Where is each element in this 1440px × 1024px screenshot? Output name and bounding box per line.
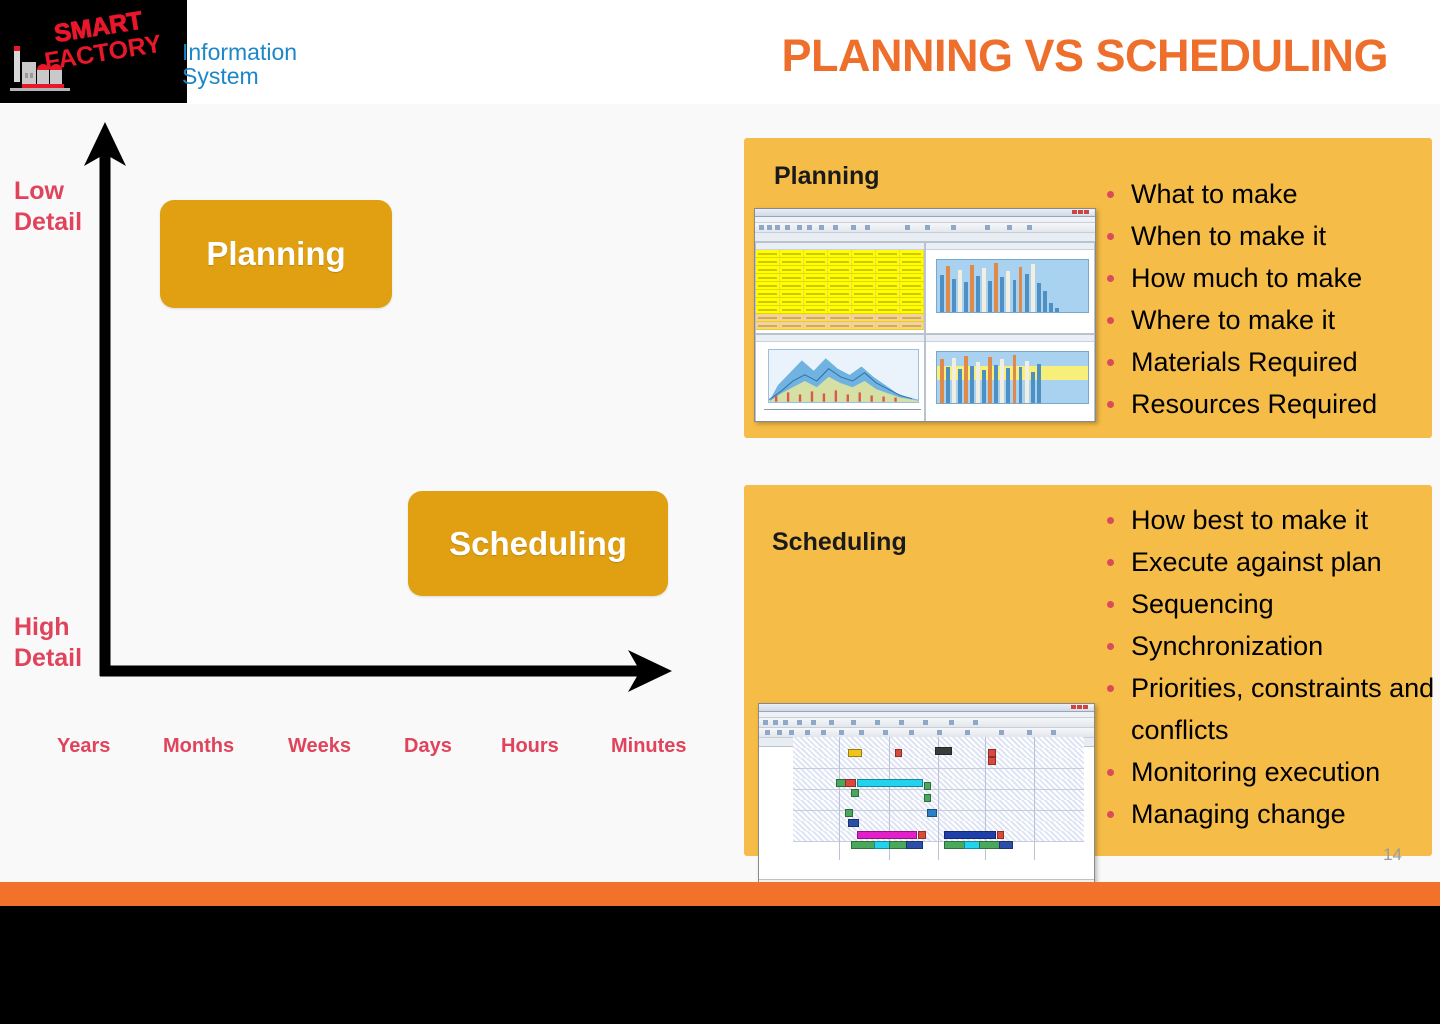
list-item: How much to make <box>1099 257 1377 299</box>
x-tick-years: Years <box>57 735 110 758</box>
planning-panel-title: Planning <box>774 162 880 191</box>
smart-factory-logo: SMART FACTORY <box>0 0 187 103</box>
list-item: Materials Required <box>1099 341 1377 383</box>
list-item: Resources Required <box>1099 383 1377 425</box>
axis-label-high-line1: High <box>14 612 82 643</box>
node-planning[interactable]: Planning <box>160 200 392 308</box>
slide-body: Low Detail High Detail Planning Scheduli… <box>0 104 1440 882</box>
axis-label-high-detail: High Detail <box>14 612 82 674</box>
footer-orange-bar <box>0 882 1440 906</box>
list-item: When to make it <box>1099 215 1377 257</box>
capacity-bar-chart-capacity-group <box>936 351 1089 405</box>
brand-line-1: Information <box>182 40 297 64</box>
app-titlebar <box>755 209 1095 217</box>
list-item: Where to make it <box>1099 299 1377 341</box>
axis-label-low-detail: Low Detail <box>14 176 82 238</box>
slide-header: SMART FACTORY Information System PLANNIN… <box>0 0 1440 104</box>
scheduling-panel: Scheduling <box>744 485 1432 856</box>
table-row <box>756 274 924 282</box>
list-item: How best to make it <box>1099 499 1440 541</box>
brand-line-2: System <box>182 64 297 88</box>
scheduling-panel-title: Scheduling <box>772 528 907 557</box>
page-title: PLANNING VS SCHEDULING <box>781 30 1388 82</box>
logo-wordmark: SMART FACTORY <box>35 1 187 103</box>
app-toolbar-row1 <box>759 718 1094 728</box>
axis-label-low-line2: Detail <box>14 207 82 238</box>
pane-capacity-planning-group <box>925 242 1095 334</box>
table-row <box>756 322 924 330</box>
list-item: Synchronization <box>1099 625 1440 667</box>
app-titlebar <box>759 704 1094 712</box>
list-item: Sequencing <box>1099 583 1440 625</box>
planning-software-screenshot <box>754 208 1096 422</box>
node-planning-label: Planning <box>206 235 345 273</box>
orders-table <box>756 250 924 328</box>
planning-panel: Planning <box>744 138 1432 438</box>
axis-label-low-line1: Low <box>14 176 82 207</box>
scheduling-bullet-list: How best to make it Execute against plan… <box>1099 499 1440 835</box>
app-panes <box>755 242 1095 422</box>
app-toolbar <box>755 223 1095 233</box>
pane-capacity-group <box>925 334 1095 423</box>
list-item: Execute against plan <box>1099 541 1440 583</box>
page-number: 14 <box>1383 845 1402 865</box>
planning-bullet-list: What to make When to make it How much to… <box>1099 173 1377 425</box>
window-controls <box>1071 705 1093 710</box>
list-item: Monitoring execution <box>1099 751 1440 793</box>
list-item: Managing change <box>1099 793 1440 835</box>
gantt-chart <box>793 737 1084 860</box>
pane-stock-profile <box>755 334 925 423</box>
pane-order-grid <box>755 242 925 334</box>
list-item: What to make <box>1099 173 1377 215</box>
table-row <box>756 298 924 306</box>
app-tabbar <box>755 233 1095 242</box>
brand-name: Information System <box>182 40 297 88</box>
table-row <box>756 290 924 298</box>
x-tick-hours: Hours <box>501 735 559 758</box>
table-row <box>756 282 924 290</box>
x-tick-weeks: Weeks <box>288 735 351 758</box>
node-scheduling[interactable]: Scheduling <box>408 491 668 596</box>
window-controls <box>1072 210 1094 215</box>
capacity-bar-chart-planning-group <box>936 259 1089 313</box>
list-item: Priorities, constraints and conflicts <box>1099 667 1440 751</box>
table-row <box>756 250 924 258</box>
table-row <box>756 258 924 266</box>
x-tick-months: Months <box>163 735 234 758</box>
x-tick-minutes: Minutes <box>611 735 687 758</box>
table-row <box>756 306 924 314</box>
footer-black-bar <box>0 906 1440 1024</box>
scheduling-gantt-screenshot <box>758 703 1095 891</box>
x-axis-tick-labels: Years Months Weeks Days Hours Minutes <box>0 735 740 771</box>
stock-profile-area-chart <box>768 349 919 403</box>
table-row <box>756 314 924 322</box>
x-tick-days: Days <box>404 735 452 758</box>
node-scheduling-label: Scheduling <box>449 525 627 563</box>
axis-label-high-line2: Detail <box>14 643 82 674</box>
table-row <box>756 266 924 274</box>
